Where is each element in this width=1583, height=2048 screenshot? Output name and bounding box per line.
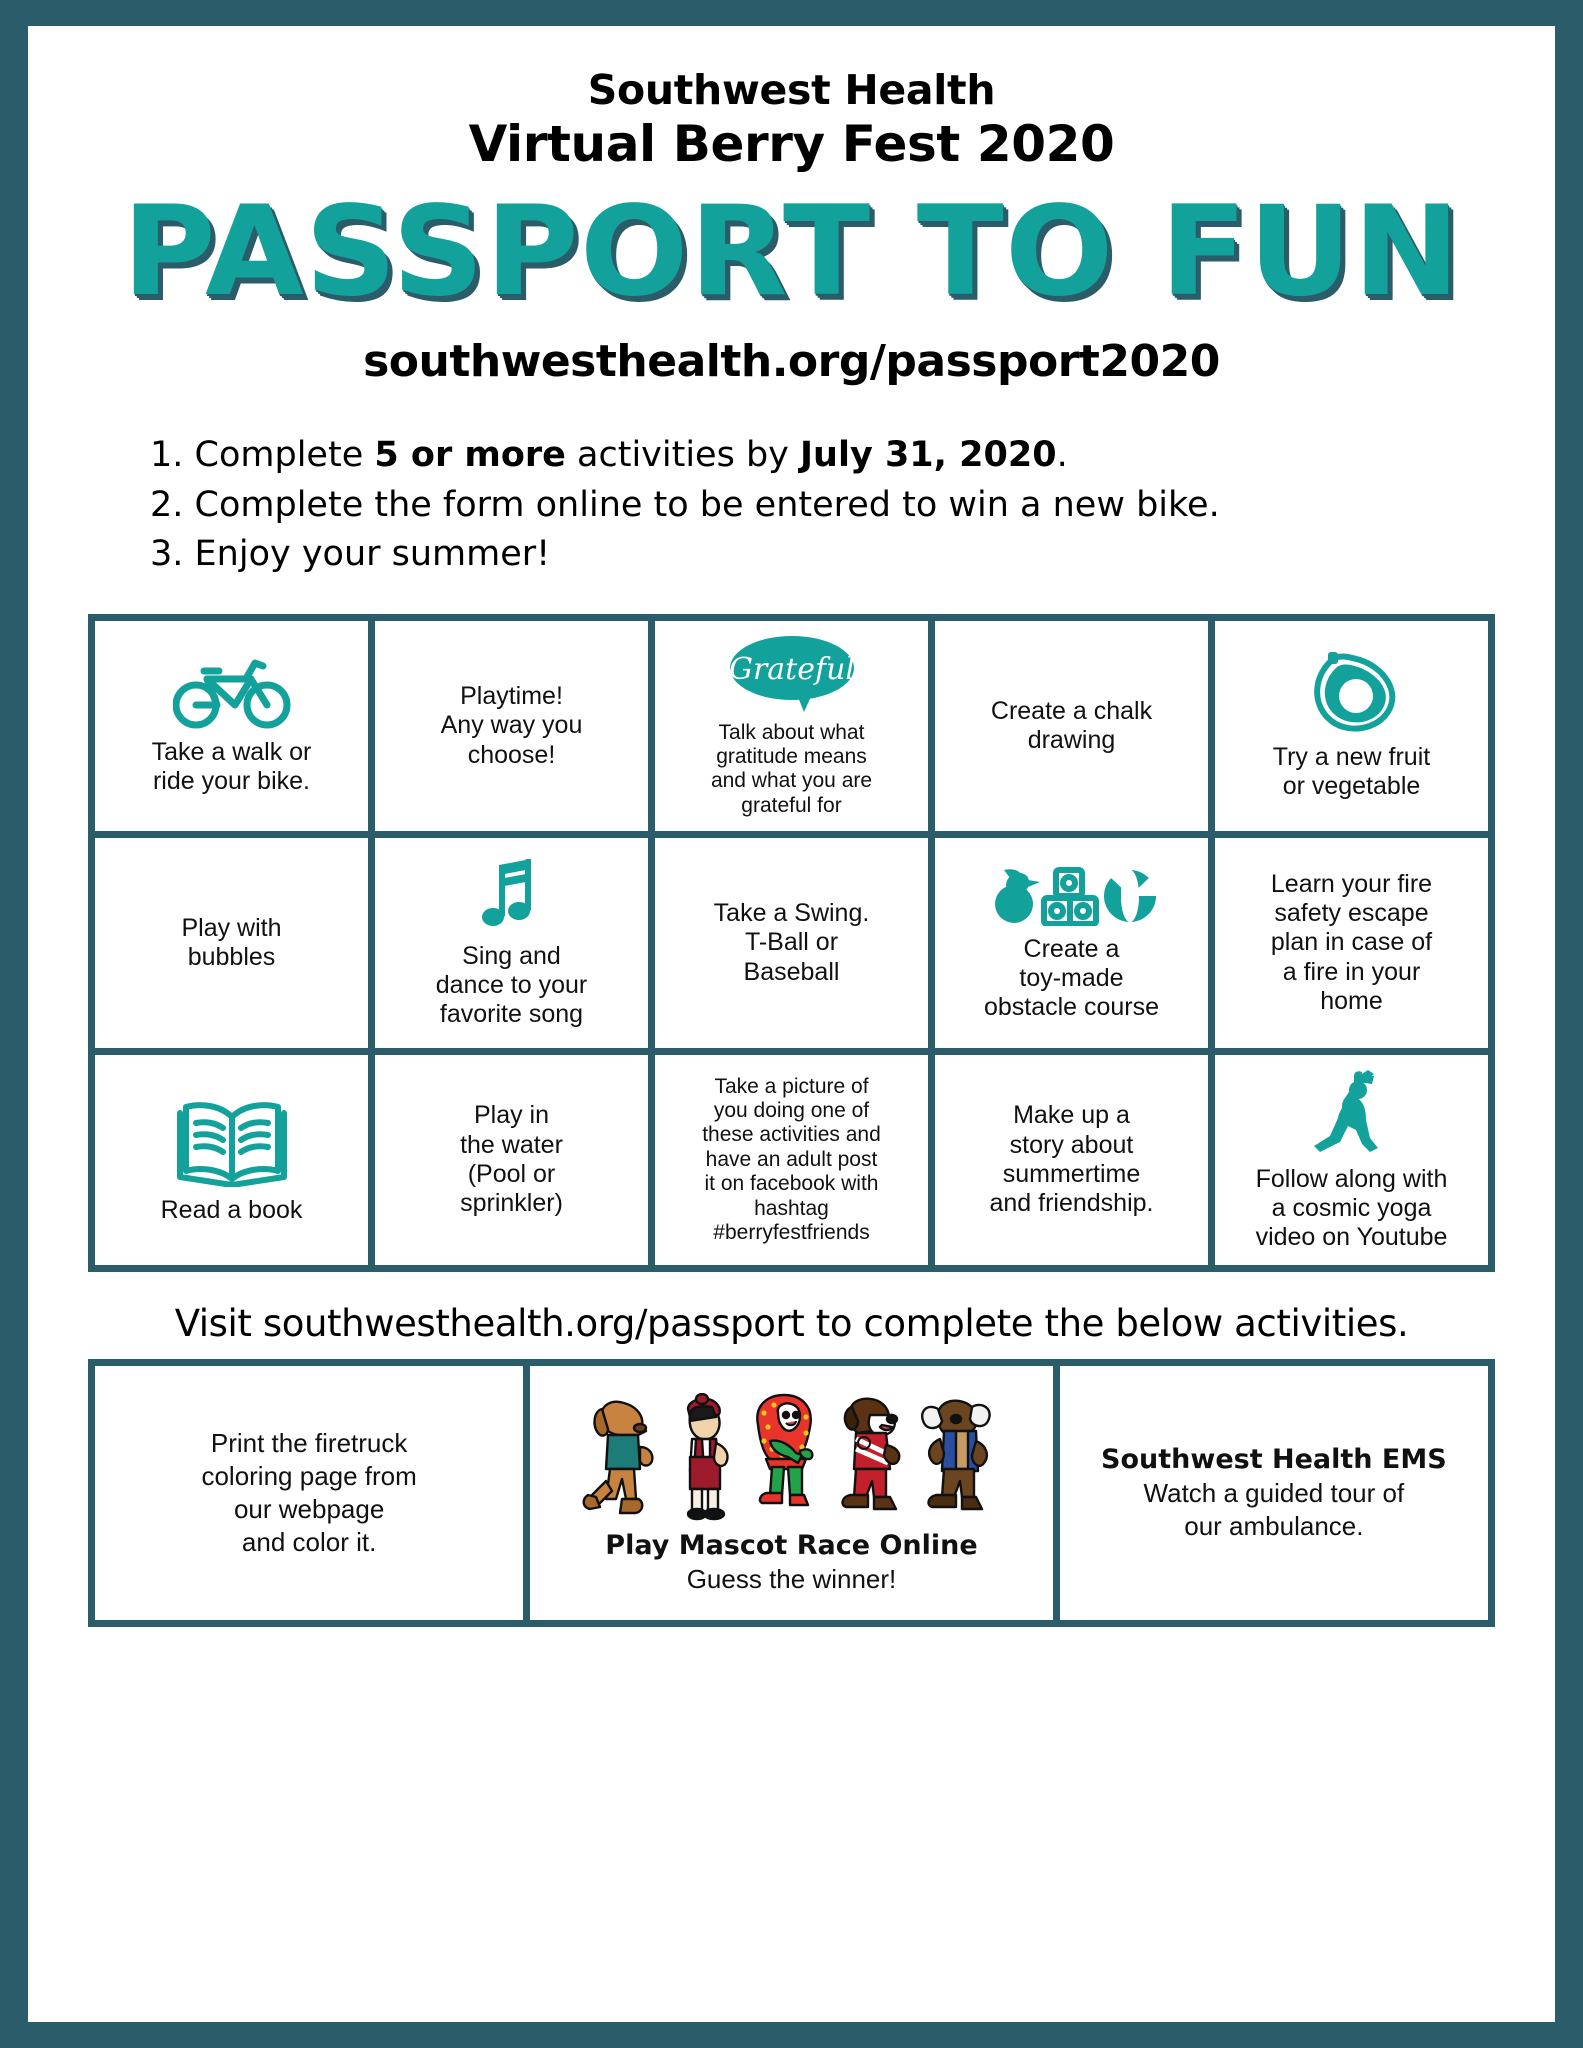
grateful-speech-bubble-icon: Grateful bbox=[722, 634, 862, 717]
activity-cell[interactable]: Follow along witha cosmic yogavideo on Y… bbox=[1215, 1055, 1488, 1265]
activity-cell[interactable]: Try a new fruitor vegetable bbox=[1215, 621, 1488, 831]
activity-cell[interactable]: Take a picture ofyou doing one ofthese a… bbox=[655, 1055, 928, 1265]
instruction-step-2: 2. Complete the form online to be entere… bbox=[150, 481, 1495, 531]
ems-tour-panel[interactable]: Southwest Health EMS Watch a guided tour… bbox=[1060, 1366, 1488, 1620]
bicycle-icon bbox=[173, 655, 291, 734]
firetruck-line-3: our webpage bbox=[234, 1493, 384, 1526]
instructions-list: 1. Complete 5 or more activities by July… bbox=[150, 431, 1495, 580]
activity-label: Talk about whatgratitude meansand what y… bbox=[711, 721, 872, 818]
activity-cell[interactable]: Create atoy-madeobstacle course bbox=[935, 838, 1208, 1048]
activity-label: Sing anddance to yourfavorite song bbox=[436, 942, 588, 1030]
firetruck-line-4: and color it. bbox=[242, 1526, 376, 1559]
step-2-number: 2. bbox=[150, 485, 183, 525]
step-1-text-b: activities by bbox=[566, 435, 800, 475]
step-2-text: Complete the form online to be entered t… bbox=[195, 485, 1220, 525]
mascot-race-illustration bbox=[582, 1391, 1000, 1521]
poster-frame: Southwest Health Virtual Berry Fest 2020… bbox=[0, 0, 1583, 2048]
activity-cell[interactable]: Read a book bbox=[95, 1055, 368, 1265]
activity-cell[interactable]: Make up astory aboutsummertimeand friend… bbox=[935, 1055, 1208, 1265]
activity-label: Playtime!Any way youchoose! bbox=[441, 682, 583, 770]
step-3-number: 3. bbox=[150, 534, 183, 574]
duck-shape bbox=[995, 869, 1040, 923]
activity-label: Take a walk orride your bike. bbox=[152, 738, 312, 797]
instruction-step-1: 1. Complete 5 or more activities by July… bbox=[150, 431, 1495, 481]
activity-cell[interactable]: Create a chalkdrawing bbox=[935, 621, 1208, 831]
passport-url: southwesthealth.org/passport2020 bbox=[88, 336, 1495, 387]
step-1-text-a: Complete bbox=[195, 435, 375, 475]
step-1-bold-count: 5 or more bbox=[374, 435, 566, 475]
activity-label: Read a book bbox=[161, 1196, 303, 1225]
activity-cell[interactable]: Playtime!Any way youchoose! bbox=[375, 621, 648, 831]
bottom-panels-frame: Print the firetruck coloring page from o… bbox=[88, 1359, 1495, 1627]
activity-label: Play inthe water(Pool orsprinkler) bbox=[460, 1101, 563, 1218]
mascot-badger-icon bbox=[916, 1393, 1000, 1521]
page-title: PASSPORT TO FUN bbox=[67, 190, 1516, 314]
ems-line-2: our ambulance. bbox=[1184, 1510, 1363, 1543]
activity-label: Make up astory aboutsummertimeand friend… bbox=[989, 1101, 1153, 1218]
activity-label: Create atoy-madeobstacle course bbox=[984, 935, 1159, 1023]
music-note-icon bbox=[479, 857, 545, 938]
activity-cell[interactable]: Sing anddance to yourfavorite song bbox=[375, 838, 648, 1048]
activity-grid-frame: Take a walk orride your bike. Playtime!A… bbox=[88, 614, 1495, 1272]
visit-instruction: Visit southwesthealth.org/passport to co… bbox=[88, 1302, 1495, 1345]
activity-label: Try a new fruitor vegetable bbox=[1273, 743, 1430, 802]
activity-cell[interactable]: Play inthe water(Pool orsprinkler) bbox=[375, 1055, 648, 1265]
blocks-shape bbox=[1044, 870, 1096, 924]
step-1-bold-date: July 31, 2020 bbox=[800, 435, 1057, 475]
bottom-panels: Print the firetruck coloring page from o… bbox=[95, 1366, 1488, 1620]
svg-text:Grateful: Grateful bbox=[728, 652, 854, 687]
poster-sheet: Southwest Health Virtual Berry Fest 2020… bbox=[28, 26, 1555, 2022]
mascot-strawberry-icon bbox=[744, 1391, 824, 1521]
event-name: Virtual Berry Fest 2020 bbox=[88, 116, 1495, 172]
activity-cell[interactable]: Take a Swing.T-Ball orBaseball bbox=[655, 838, 928, 1048]
mascot-man-icon bbox=[668, 1393, 736, 1521]
activity-cell[interactable]: Take a walk orride your bike. bbox=[95, 621, 368, 831]
mascot-bulldog-icon bbox=[832, 1393, 908, 1521]
step-1-number: 1. bbox=[150, 435, 183, 475]
activity-cell[interactable]: Play withbubbles bbox=[95, 838, 368, 1048]
ems-title: Southwest Health EMS bbox=[1101, 1443, 1447, 1477]
activity-hashtag: #berryfestfriends bbox=[713, 1221, 869, 1245]
step-1-text-c: . bbox=[1057, 435, 1068, 475]
firetruck-line-2: coloring page from bbox=[201, 1460, 416, 1493]
mascot-race-title: Play Mascot Race Online bbox=[605, 1529, 977, 1563]
activity-label: Play withbubbles bbox=[181, 914, 281, 973]
activity-cell[interactable]: Learn your firesafety escapeplan in case… bbox=[1215, 838, 1488, 1048]
beach-ball-shape bbox=[1104, 867, 1156, 922]
step-3-text: Enjoy your summer! bbox=[195, 534, 551, 574]
yoga-pose-icon bbox=[1300, 1068, 1404, 1161]
activity-label: Take a picture ofyou doing one ofthese a… bbox=[702, 1075, 881, 1221]
activity-cell[interactable]: Grateful Talk about whatgratitude meansa… bbox=[655, 621, 928, 831]
mascot-race-panel[interactable]: Play Mascot Race Online Guess the winner… bbox=[530, 1366, 1052, 1620]
activity-label: Create a chalkdrawing bbox=[991, 697, 1152, 756]
activity-label: Take a Swing.T-Ball orBaseball bbox=[714, 899, 870, 987]
poster-header: Southwest Health Virtual Berry Fest 2020… bbox=[88, 68, 1495, 387]
avocado-icon bbox=[1304, 650, 1400, 739]
activity-label: Follow along witha cosmic yogavideo on Y… bbox=[1256, 1165, 1448, 1253]
toys-icon bbox=[988, 864, 1156, 931]
open-book-icon bbox=[176, 1095, 288, 1192]
organization-name: Southwest Health bbox=[88, 68, 1495, 114]
activity-label: Learn your firesafety escapeplan in case… bbox=[1271, 870, 1432, 1016]
instruction-step-3: 3. Enjoy your summer! bbox=[150, 530, 1495, 580]
ems-line-1: Watch a guided tour of bbox=[1144, 1477, 1405, 1510]
mascot-race-subtitle: Guess the winner! bbox=[687, 1563, 897, 1596]
firetruck-coloring-panel[interactable]: Print the firetruck coloring page from o… bbox=[95, 1366, 523, 1620]
activity-grid: Take a walk orride your bike. Playtime!A… bbox=[95, 621, 1488, 1265]
firetruck-line-1: Print the firetruck bbox=[211, 1427, 408, 1460]
mascot-dog-teal-icon bbox=[582, 1395, 660, 1521]
